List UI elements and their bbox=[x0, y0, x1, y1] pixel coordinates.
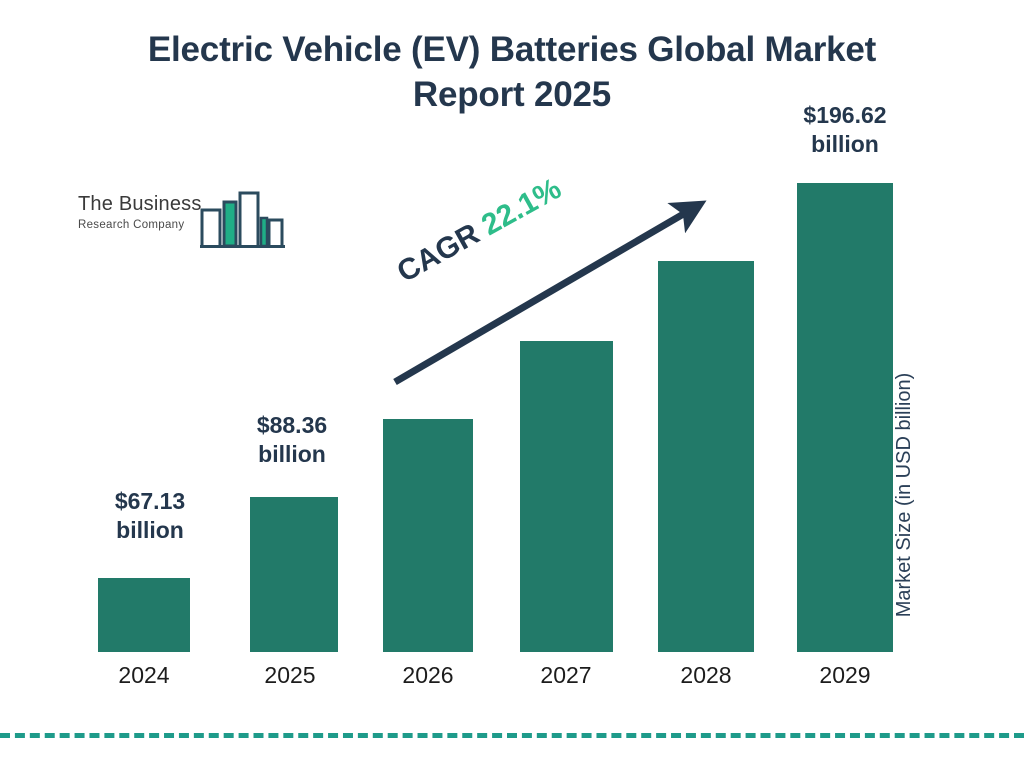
bar-value-amount: $88.36 bbox=[232, 411, 352, 440]
bar-value-label-2029: $196.62 billion bbox=[775, 101, 915, 160]
footer-divider bbox=[0, 733, 1024, 738]
bar-value-label-2025: $88.36 billion bbox=[232, 411, 352, 470]
bar-value-amount: $196.62 bbox=[775, 101, 915, 130]
bar-value-label-2024: $67.13 billion bbox=[90, 487, 210, 546]
bar-2025[interactable] bbox=[250, 497, 338, 652]
bar-value-unit: billion bbox=[90, 516, 210, 545]
x-axis-tick-2025: 2025 bbox=[234, 662, 346, 689]
bar-2026[interactable] bbox=[383, 419, 473, 652]
x-axis-tick-2028: 2028 bbox=[650, 662, 762, 689]
bar-2029[interactable] bbox=[797, 183, 893, 652]
chart-page: Electric Vehicle (EV) Batteries Global M… bbox=[0, 0, 1024, 768]
bar-value-unit: billion bbox=[775, 130, 915, 159]
x-axis-tick-2026: 2026 bbox=[372, 662, 484, 689]
cagr-growth-arrow-icon bbox=[380, 190, 720, 400]
bar-value-unit: billion bbox=[232, 440, 352, 469]
bar-value-amount: $67.13 bbox=[90, 487, 210, 516]
x-axis-tick-2029: 2029 bbox=[789, 662, 901, 689]
bar-2024[interactable] bbox=[98, 578, 190, 652]
x-axis-tick-2027: 2027 bbox=[510, 662, 622, 689]
y-axis-title: Market Size (in USD billion) bbox=[893, 330, 916, 660]
x-axis-tick-2024: 2024 bbox=[88, 662, 200, 689]
